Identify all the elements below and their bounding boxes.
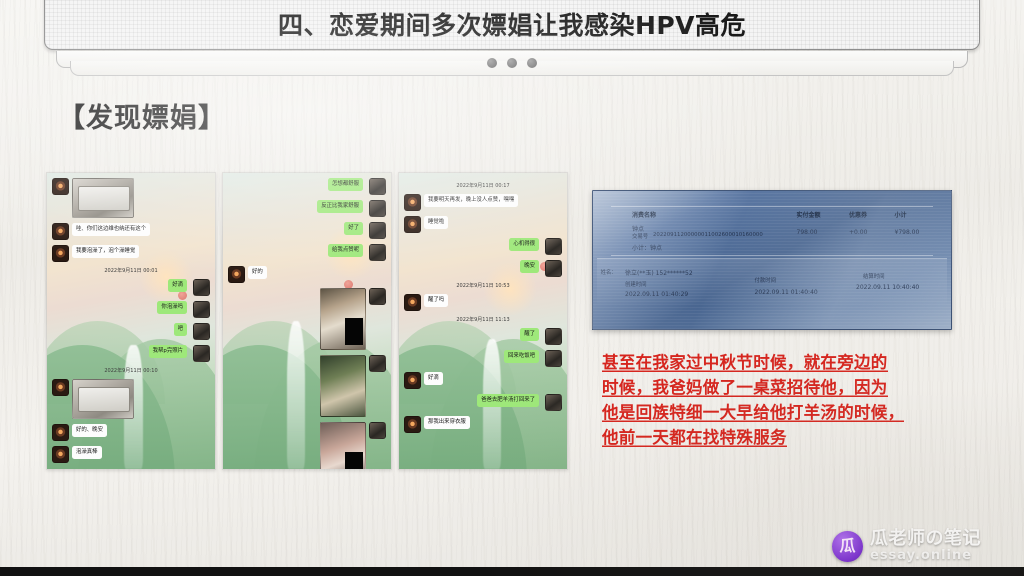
chat-bubble[interactable]: 醒了吗 (424, 294, 448, 307)
watermark: 瓜 瓜老师の笔记 essay.online (832, 530, 981, 562)
receipt-col-name: 消费名称 (632, 210, 656, 219)
receipt-subtotal-label: 小计：钟点 (632, 243, 662, 252)
chat-bubble[interactable]: 我要泡澡了，泡个澡睡觉 (72, 245, 139, 258)
chat-bubble[interactable]: 好的 (248, 266, 267, 279)
avatar (369, 178, 386, 195)
chat-timestamp: 2022年9月11日 10:53 (404, 282, 562, 289)
chat-image-attachment[interactable] (72, 178, 134, 218)
chat-bubble[interactable]: 好滴 (168, 279, 187, 292)
chat-message-row: 那我出来穿衣服 (404, 416, 562, 433)
chat-message-row (228, 355, 386, 417)
brand-logo-icon: 瓜 (832, 531, 863, 562)
chat-message-row (52, 178, 210, 218)
avatar (52, 379, 69, 396)
chat-bubble[interactable]: 你泡澡吗 (157, 301, 187, 314)
banner-dot (487, 58, 497, 68)
receipt-guest-label: 姓名： (601, 268, 617, 276)
chat-message-row: 吧 (52, 323, 210, 340)
chat-bubble[interactable]: 那我出来穿衣服 (424, 416, 470, 429)
receipt-col-subtotal: 小计 (895, 210, 907, 219)
chat-message-row: 好滴 (404, 372, 562, 389)
section-heading: 【发现嫖娟】 (58, 96, 226, 135)
receipt-guest-value: 徐立(**玉) 152******52 (625, 268, 693, 277)
chat-message-row: 好的 (228, 266, 386, 283)
chat-message-row: 你泡澡吗 (52, 301, 210, 318)
chat-bubble[interactable]: 泡澡真棒 (72, 446, 102, 459)
chat-bubble[interactable]: 睡觉啦 (424, 216, 448, 229)
receipt-content: 消费名称 实付金额 优惠券 小计 钟点 交易号 2022091120000001… (597, 196, 947, 321)
chat-message-list-1: 哇、你们这边维也纳还有这个我要泡澡了，泡个澡睡觉2022年9月11日 00:01… (47, 173, 215, 469)
avatar (193, 345, 210, 362)
receipt-transaction-no: 20220911200000011002600010160000 (653, 232, 763, 238)
chat-bubble[interactable]: 给我点赞呢 (328, 244, 363, 257)
redaction-box (345, 318, 363, 345)
avatar (193, 323, 210, 340)
page-title: 四、恋爱期间多次嫖娼让我感染HPV高危 (278, 6, 746, 42)
chat-message-row (228, 422, 386, 470)
chat-message-row: 我要泡澡了，泡个澡睡觉 (52, 245, 210, 262)
receipt-pay-label: 付款时间 (755, 276, 777, 284)
avatar (369, 355, 386, 372)
bottom-letterbox-bar (0, 567, 1024, 576)
avatar (545, 394, 562, 411)
chat-image-attachment[interactable] (320, 355, 366, 417)
chat-message-row (52, 379, 210, 419)
redaction-box (345, 452, 363, 470)
avatar (228, 266, 245, 283)
receipt-settle-label: 结算时间 (863, 272, 885, 280)
avatar (369, 422, 386, 439)
banner-dot (507, 58, 517, 68)
chat-bubble[interactable]: 好了 (344, 222, 363, 235)
chat-screenshot-1: 哇、你们这边维也纳还有这个我要泡澡了，泡个澡睡觉2022年9月11日 00:01… (46, 172, 216, 470)
avatar (404, 372, 421, 389)
chat-message-row: 怎想都舒服 (228, 178, 386, 195)
chat-bubble[interactable]: 爸爸去肥羊汤打回来了 (477, 394, 539, 407)
chat-message-row (228, 288, 386, 350)
chat-bubble[interactable]: 醒了 (520, 328, 539, 341)
avatar (369, 222, 386, 239)
watermark-text: 瓜老师の笔记 essay.online (870, 530, 981, 562)
avatar (545, 238, 562, 255)
chat-timestamp: 2022年9月11日 11:13 (404, 316, 562, 323)
receipt-col-coupon: 优惠券 (849, 210, 867, 219)
chat-message-row: 爸爸去肥羊汤打回来了 (404, 394, 562, 411)
red-note-line-4: 他前一天都在找特殊服务 (602, 428, 787, 447)
avatar (52, 178, 69, 195)
chat-message-row: 醒了 (404, 328, 562, 345)
chat-message-row: 好滴 (52, 279, 210, 296)
banner-dot (527, 58, 537, 68)
receipt-settle-time: 2022.09.11 10:40:40 (856, 284, 919, 291)
chat-message-row: 泡澡真棒 (52, 446, 210, 463)
chat-message-row: 回来吃饭吧 (404, 350, 562, 367)
receipt-transaction-label: 交易号 (632, 232, 648, 240)
avatar (52, 446, 69, 463)
title-banner: 四、恋爱期间多次嫖娼让我感染HPV高危 (0, 0, 1024, 86)
avatar (404, 194, 421, 211)
chat-bubble[interactable]: 好的、晚安 (72, 424, 107, 437)
chat-message-row: 睡觉啦 (404, 216, 562, 233)
chat-message-row: 心机得很 (404, 238, 562, 255)
banner-dots (0, 58, 1024, 68)
chat-timestamp: 2022年9月11日 00:10 (52, 367, 210, 374)
receipt-amount: 798.00 (797, 229, 818, 236)
chat-image-attachment[interactable] (320, 288, 366, 350)
slide-canvas: 四、恋爱期间多次嫖娼让我感染HPV高危 【发现嫖娟】 哇、你们这边维也纳还有这个… (0, 0, 1024, 576)
chat-message-row: 我要明天再发，晚上没人点赞，嘿嘿 (404, 194, 562, 211)
avatar (404, 216, 421, 233)
chat-screenshot-3: 2022年9月11日 00:17我要明天再发，晚上没人点赞，嘿嘿睡觉啦心机得很晚… (398, 172, 568, 470)
avatar (545, 328, 562, 345)
chat-bubble[interactable]: 反正比我家舒服 (317, 200, 363, 213)
watermark-en: essay.online (870, 549, 981, 562)
chat-message-row: 反正比我家舒服 (228, 200, 386, 217)
receipt-pay-time: 2022.09.11 01:40:40 (755, 289, 818, 296)
avatar (404, 294, 421, 311)
watermark-cn: 瓜老师の笔记 (870, 530, 981, 548)
avatar (369, 200, 386, 217)
chat-image-attachment[interactable] (72, 379, 134, 419)
receipt-subtotal: ¥798.00 (895, 229, 920, 236)
chat-bubble[interactable]: 好滴 (424, 372, 443, 385)
chat-message-row: 醒了吗 (404, 294, 562, 311)
chat-message-row: 晚安 (404, 260, 562, 277)
chat-message-row: 好的、晚安 (52, 424, 210, 441)
chat-message-row: 哇、你们这边维也纳还有这个 (52, 223, 210, 240)
avatar (193, 279, 210, 296)
receipt-create-label: 创建时间 (625, 280, 647, 288)
chat-message-row: 我帮p完照片 (52, 345, 210, 362)
chat-bubble[interactable]: 哇、你们这边维也纳还有这个 (72, 223, 150, 236)
brand-logo-glyph: 瓜 (839, 538, 855, 554)
chat-message-list-2: 怎想都舒服反正比我家舒服好了给我点赞呢好的 (223, 173, 391, 469)
chat-bubble[interactable]: 回来吃饭吧 (504, 350, 539, 363)
red-note-line-3: 他是回族特细一大早给他打羊汤的时候， (602, 403, 904, 422)
chat-bubble[interactable]: 怎想都舒服 (328, 178, 363, 191)
avatar (404, 416, 421, 433)
red-annotation-text: 甚至在我家过中秋节时候，就在旁边的 时候，我爸妈做了一桌菜招待他，因为 他是回族… (602, 350, 974, 450)
receipt-create-time: 2022.09.11 01:40:29 (625, 291, 688, 298)
chat-bubble[interactable]: 吧 (174, 323, 187, 336)
chat-bubble[interactable]: 心机得很 (509, 238, 539, 251)
chat-bubble[interactable]: 我要明天再发，晚上没人点赞，嘿嘿 (424, 194, 518, 207)
avatar (369, 288, 386, 305)
chat-screenshot-2: 怎想都舒服反正比我家舒服好了给我点赞呢好的 (222, 172, 392, 470)
red-note-line-1: 甚至在我家过中秋节时候，就在旁边的 (602, 353, 888, 372)
hotel-receipt-photo: 消费名称 实付金额 优惠券 小计 钟点 交易号 2022091120000001… (592, 190, 952, 330)
chat-message-row: 好了 (228, 222, 386, 239)
chat-bubble[interactable]: 晚安 (520, 260, 539, 273)
chat-timestamp: 2022年9月11日 00:17 (404, 182, 562, 189)
avatar (369, 244, 386, 261)
avatar (52, 245, 69, 262)
chat-image-attachment[interactable] (320, 422, 366, 470)
avatar (52, 223, 69, 240)
red-note-line-2: 时候，我爸妈做了一桌菜招待他，因为 (602, 378, 888, 397)
avatar (545, 260, 562, 277)
avatar (193, 301, 210, 318)
title-banner-box: 四、恋爱期间多次嫖娼让我感染HPV高危 (44, 0, 980, 50)
avatar (52, 424, 69, 441)
receipt-col-amount: 实付金额 (797, 210, 821, 219)
chat-bubble[interactable]: 我帮p完照片 (149, 345, 187, 358)
avatar (545, 350, 562, 367)
chat-timestamp: 2022年9月11日 00:01 (52, 267, 210, 274)
chat-message-list-3: 2022年9月11日 00:17我要明天再发，晚上没人点赞，嘿嘿睡觉啦心机得很晚… (399, 173, 567, 469)
receipt-coupon: +0.00 (849, 229, 867, 236)
chat-message-row: 给我点赞呢 (228, 244, 386, 261)
